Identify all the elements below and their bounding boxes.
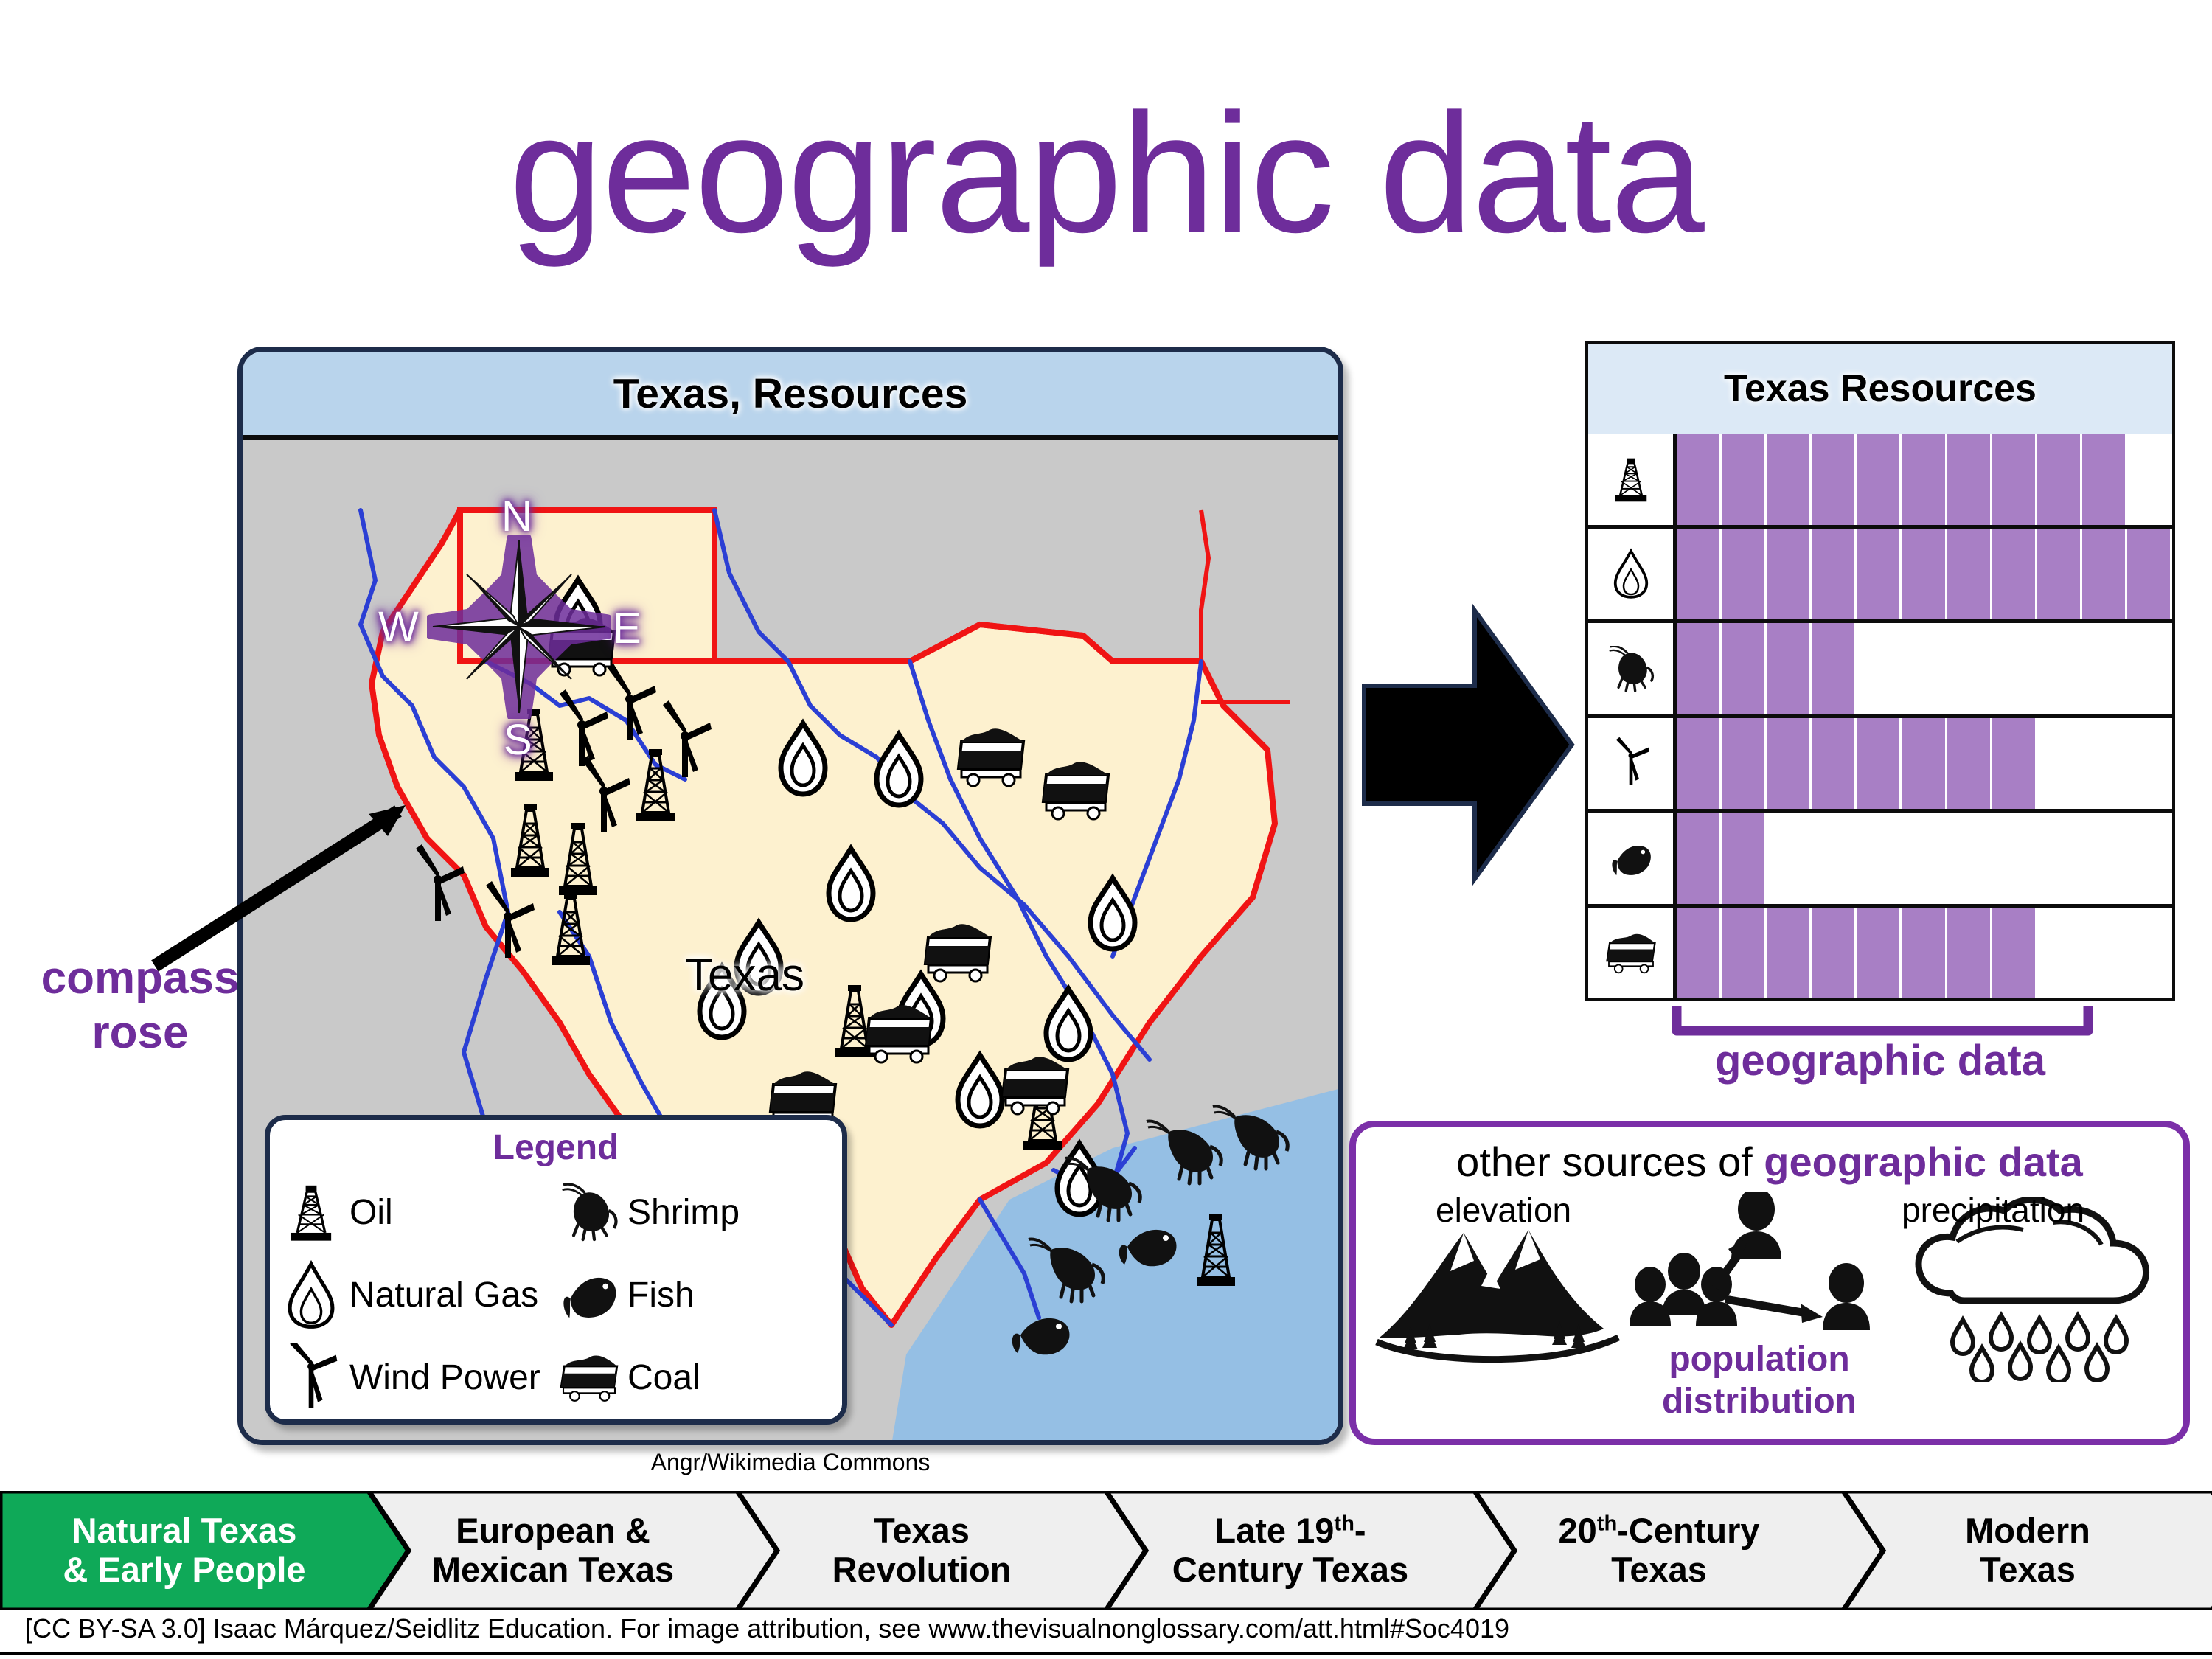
- chart-cell: [1857, 813, 1902, 904]
- coal-cart-icon: [558, 1341, 620, 1413]
- other-sources-title-plain: other sources of: [1456, 1138, 1764, 1185]
- chart-cell: [1812, 529, 1857, 620]
- population-group-icon: [1625, 1192, 1891, 1361]
- legend-label-oil: Oil: [349, 1192, 393, 1233]
- chart-row-fish: [1588, 813, 2172, 908]
- chart-bar-wind-power: [1677, 718, 2172, 810]
- chart-cell: [1812, 813, 1857, 904]
- fish-icon: [1588, 813, 1677, 904]
- annotation-line-1: compass: [15, 951, 265, 1006]
- compass-star-icon: [427, 535, 611, 719]
- timeline-label-line1: Modern: [1965, 1512, 2090, 1551]
- chart-header-panel: Texas Resources: [1585, 341, 2175, 437]
- chart-cell: [1767, 908, 1812, 999]
- shrimp-icon: [558, 1176, 620, 1248]
- timeline-label-line1: 20th-Century: [1558, 1512, 1759, 1551]
- legend-title: Legend: [280, 1127, 832, 1168]
- chart-cell: [1767, 718, 1812, 810]
- map-state-label: Texas: [685, 949, 804, 1001]
- chart-title: Texas Resources: [1724, 366, 2037, 411]
- chart-cell: [1992, 908, 2037, 999]
- legend-label-wind-power: Wind Power: [349, 1357, 540, 1398]
- chart-bar-natural-gas: [1677, 529, 2172, 620]
- chart-cell: [1857, 434, 1902, 525]
- chart-row-natural-gas: [1588, 529, 2172, 624]
- chart-header: Texas Resources: [1585, 341, 2175, 437]
- chart-cell: [1767, 529, 1812, 620]
- timeline-label-5: 20th-CenturyTexas: [1475, 1491, 1843, 1610]
- other-sources-title-accent: geographic data: [1764, 1138, 2083, 1185]
- caption-elevation: elevation: [1436, 1190, 1571, 1230]
- timeline-label-line1: Texas: [874, 1512, 970, 1551]
- chart-cell: [1722, 813, 1767, 904]
- compass-west-label: W: [378, 602, 419, 652]
- timeline-label-line2: Century Texas: [1172, 1551, 1408, 1590]
- compass-north-label: N: [501, 492, 532, 541]
- chart-cell: [2082, 718, 2127, 810]
- chart-cell: [2127, 908, 2172, 999]
- chart-cell: [2037, 718, 2082, 810]
- footer-rule: [0, 1652, 2212, 1655]
- oil-derrick-icon: [280, 1176, 342, 1248]
- timeline-label-line1: European &: [456, 1512, 650, 1551]
- chart-cell: [1947, 529, 1992, 620]
- legend-item-coal: Coal: [558, 1338, 832, 1417]
- chart-cell: [2082, 529, 2127, 620]
- chart-cell: [1992, 623, 2037, 714]
- chart-cell: [1812, 908, 1857, 999]
- chart-cell: [1992, 529, 2037, 620]
- shrimp-icon: [1588, 623, 1677, 714]
- other-sources-panel: other sources of geographic data: [1349, 1121, 2190, 1445]
- chart-cell: [1902, 434, 1947, 525]
- fish-icon: [558, 1259, 620, 1331]
- chart-cell: [1902, 813, 1947, 904]
- timeline-label-line1: Natural Texas: [72, 1512, 297, 1551]
- chart-cell: [1902, 529, 1947, 620]
- timeline-label-line2: Texas: [1611, 1551, 1707, 1590]
- chart-cell: [2127, 623, 2172, 714]
- chart-cell: [1902, 623, 1947, 714]
- chart-cell: [2127, 813, 2172, 904]
- chart-cell: [1857, 529, 1902, 620]
- chart-cell: [1722, 623, 1767, 714]
- timeline-label-line2: Revolution: [832, 1551, 1012, 1590]
- caption-population-line2: distribution: [1662, 1382, 1857, 1421]
- chart-cell: [1677, 718, 1722, 810]
- chart-cell: [2037, 623, 2082, 714]
- legend-item-natural-gas: Natural Gas: [280, 1255, 554, 1335]
- chart-cell: [1947, 718, 1992, 810]
- chart-row-coal: [1588, 908, 2172, 999]
- legend-label-coal: Coal: [627, 1357, 700, 1398]
- chart-cell: [2082, 623, 2127, 714]
- chart-cell: [1947, 623, 1992, 714]
- legend-label-natural-gas: Natural Gas: [349, 1275, 538, 1315]
- chart-bar-oil: [1677, 434, 2172, 525]
- chart-cell: [1812, 623, 1857, 714]
- chart-cell: [1722, 718, 1767, 810]
- chart-cell: [2082, 434, 2127, 525]
- chart-cell: [2037, 908, 2082, 999]
- timeline-label-line2: & Early People: [63, 1551, 305, 1590]
- chart-cell: [2127, 529, 2172, 620]
- legend-items: Oil Shrimp: [280, 1172, 832, 1417]
- texas-resources-bar-chart: [1585, 434, 2175, 1001]
- unit-timeline: Natural Texas& Early People European &Me…: [0, 1491, 2212, 1610]
- chart-cell: [1857, 623, 1902, 714]
- chart-cell: [1722, 529, 1767, 620]
- chart-bar-coal: [1677, 908, 2172, 999]
- chart-cell: [1947, 813, 1992, 904]
- chart-cell: [1677, 908, 1722, 999]
- chart-row-oil: [1588, 434, 2172, 529]
- timeline-label-6: ModernTexas: [1843, 1491, 2212, 1610]
- footer-attribution: [CC BY-SA 3.0] Isaac Márquez/Seidlitz Ed…: [0, 1613, 2212, 1644]
- timeline-label-2: European &Mexican Texas: [369, 1491, 737, 1610]
- page-title: geographic data: [0, 88, 2212, 258]
- oil-derrick-icon: [1588, 434, 1677, 525]
- wind-turbine-icon: [1588, 718, 1677, 810]
- chart-cell: [1767, 813, 1812, 904]
- other-sources-items: elevation precipitation population distr…: [1356, 1186, 2183, 1422]
- chart-bar-fish: [1677, 813, 2172, 904]
- chart-cell: [1857, 908, 1902, 999]
- chart-cell: [1722, 434, 1767, 525]
- chart-cell: [1677, 434, 1722, 525]
- map-credit: Angr/Wikimedia Commons: [237, 1449, 1343, 1476]
- flow-arrow-icon: [1357, 590, 1578, 900]
- map-header-title: Texas, Resources: [613, 369, 968, 418]
- compass-rose: N E S W: [427, 535, 611, 719]
- compass-east-label: E: [613, 604, 641, 653]
- compass-rose-annotation-label: compass rose: [15, 951, 265, 1061]
- chart-cell: [2082, 908, 2127, 999]
- timeline-label-line2: Texas: [1980, 1551, 2076, 1590]
- chart-cell: [1992, 813, 2037, 904]
- chart-cell: [1812, 718, 1857, 810]
- chart-cell: [2127, 434, 2172, 525]
- timeline-label-line1: Late 19th-: [1214, 1512, 1366, 1551]
- caption-population-distribution: population distribution: [1645, 1339, 1874, 1422]
- chart-cell: [2037, 529, 2082, 620]
- chart-cell: [1902, 718, 1947, 810]
- annotation-line-2: rose: [15, 1006, 265, 1060]
- chart-cell: [1947, 434, 1992, 525]
- compass-south-label: S: [504, 715, 532, 765]
- caption-population-line1: population: [1669, 1340, 1849, 1379]
- map-header: Texas, Resources: [243, 352, 1338, 440]
- other-sources-title: other sources of geographic data: [1356, 1138, 2183, 1186]
- chart-cell: [2037, 434, 2082, 525]
- chart-cell: [2082, 813, 2127, 904]
- flame-icon: [280, 1259, 342, 1331]
- geographic-data-bracket: [1672, 1004, 2093, 1040]
- chart-cell: [1992, 434, 2037, 525]
- chart-row-wind-power: [1588, 718, 2172, 813]
- chart-cell: [1812, 434, 1857, 525]
- coal-cart-icon: [1588, 908, 1677, 999]
- timeline-label-3: TexasRevolution: [737, 1491, 1106, 1610]
- chart-cell: [1857, 718, 1902, 810]
- legend-item-fish: Fish: [558, 1255, 832, 1335]
- chart-cell: [1677, 529, 1722, 620]
- chart-row-shrimp: [1588, 623, 2172, 718]
- timeline-label-4: Late 19th-Century Texas: [1106, 1491, 1475, 1610]
- chart-cell: [1677, 813, 1722, 904]
- chart-cell: [1677, 623, 1722, 714]
- wind-turbine-icon: [280, 1341, 342, 1413]
- timeline-label-line2: Mexican Texas: [432, 1551, 674, 1590]
- flame-icon: [1588, 529, 1677, 620]
- chart-cell: [2127, 718, 2172, 810]
- chart-cell: [1902, 908, 1947, 999]
- legend-item-oil: Oil: [280, 1172, 554, 1252]
- map-legend: Legend Oil: [265, 1115, 847, 1425]
- legend-label-fish: Fish: [627, 1275, 695, 1315]
- chart-cell: [1767, 434, 1812, 525]
- chart-cell: [1947, 908, 1992, 999]
- timeline-label-1: Natural Texas& Early People: [0, 1491, 369, 1610]
- chart-cell: [1722, 908, 1767, 999]
- chart-cell: [2037, 813, 2082, 904]
- chart-cell: [1767, 623, 1812, 714]
- bracket-label: geographic data: [1585, 1036, 2175, 1085]
- legend-label-shrimp: Shrimp: [627, 1192, 740, 1233]
- chart-cell: [1992, 718, 2037, 810]
- chart-bar-shrimp: [1677, 623, 2172, 714]
- caption-precipitation: precipitation: [1902, 1190, 2084, 1230]
- legend-item-wind-power: Wind Power: [280, 1338, 554, 1417]
- legend-item-shrimp: Shrimp: [558, 1172, 832, 1252]
- infographic-page: geographic data Texas, Resources: [0, 0, 2212, 1659]
